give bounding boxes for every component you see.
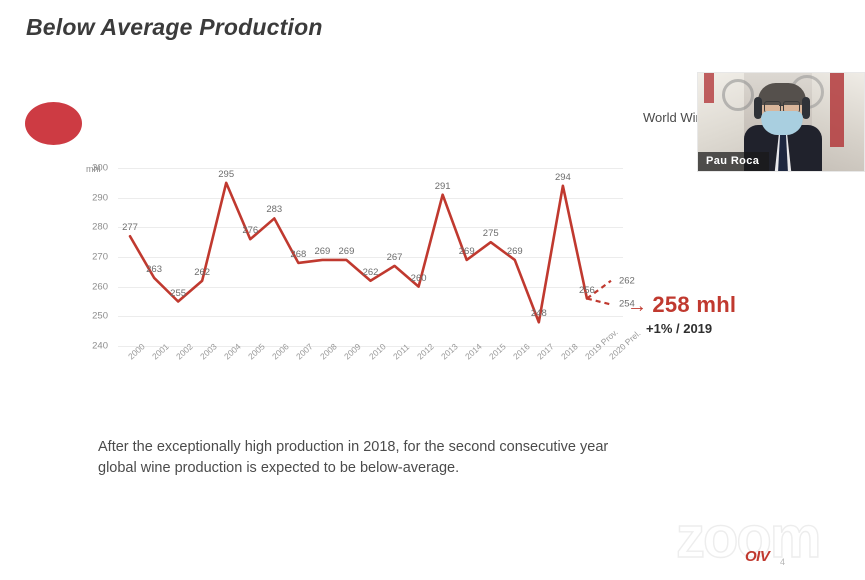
arrow-right-icon: → — [627, 295, 647, 317]
data-point-label: 255 — [170, 288, 186, 299]
page-title: Below Average Production — [26, 14, 323, 41]
header-subtitle: World Win — [643, 110, 703, 125]
y-axis-tick: 280 — [78, 222, 108, 233]
forecast-high-label: 262 — [619, 275, 635, 286]
data-point-label: 276 — [242, 225, 258, 236]
annotation-value-row: →258 mhl — [627, 292, 736, 318]
data-point-label: 248 — [531, 308, 547, 319]
y-axis-tick: 290 — [78, 192, 108, 203]
data-point-label: 294 — [555, 172, 571, 183]
flag-red-stripe-left — [704, 73, 714, 103]
data-point-label: 260 — [411, 273, 427, 284]
participant-name-badge: Pau Roca — [698, 152, 769, 171]
data-point-label: 268 — [290, 249, 306, 260]
production-line-chart: mhl 300290280270260250240 27726325526229… — [78, 168, 623, 368]
annotation-delta: +1% / 2019 — [646, 321, 736, 336]
flag-red-stripe — [830, 73, 844, 147]
decorative-ellipse — [25, 102, 82, 145]
slide-caption: After the exceptionally high production … — [98, 437, 618, 479]
video-participant-tile[interactable]: Pau Roca — [697, 72, 865, 172]
data-point-label: 269 — [339, 246, 355, 257]
emblem-icon — [722, 79, 754, 111]
data-point-label: 263 — [146, 264, 162, 275]
chart-series-svg — [118, 168, 623, 346]
y-axis-tick: 240 — [78, 341, 108, 352]
forecast-low — [587, 299, 611, 305]
data-point-label: 283 — [266, 204, 282, 215]
page-number: 4 — [780, 557, 785, 567]
headset-right-icon — [802, 97, 810, 119]
y-axis-tick: 300 — [78, 163, 108, 174]
data-point-label: 269 — [314, 246, 330, 257]
data-point-label: 262 — [194, 267, 210, 278]
data-point-label: 269 — [459, 246, 475, 257]
slide: Below Average Production World Win Pau R… — [0, 0, 865, 580]
data-point-label: 275 — [483, 228, 499, 239]
face-mask-icon — [761, 111, 803, 135]
data-point-label: 277 — [122, 222, 138, 233]
data-point-label: 291 — [435, 181, 451, 192]
chart-plot-area: 2772632552622952762832682692692622672602… — [118, 168, 623, 368]
glasses-bridge-icon — [779, 105, 783, 106]
summary-annotation: →258 mhl +1% / 2019 — [627, 292, 736, 336]
y-axis-tick: 260 — [78, 281, 108, 292]
data-point-label: 269 — [507, 246, 523, 257]
data-point-label: 295 — [218, 169, 234, 180]
annotation-value: 258 mhl — [652, 292, 736, 317]
data-point-label: 256 — [579, 285, 595, 296]
oiv-logo: OIV — [745, 548, 769, 565]
y-axis-tick: 250 — [78, 311, 108, 322]
data-point-label: 267 — [387, 252, 403, 263]
y-axis-tick: 270 — [78, 252, 108, 263]
data-point-label: 262 — [363, 267, 379, 278]
